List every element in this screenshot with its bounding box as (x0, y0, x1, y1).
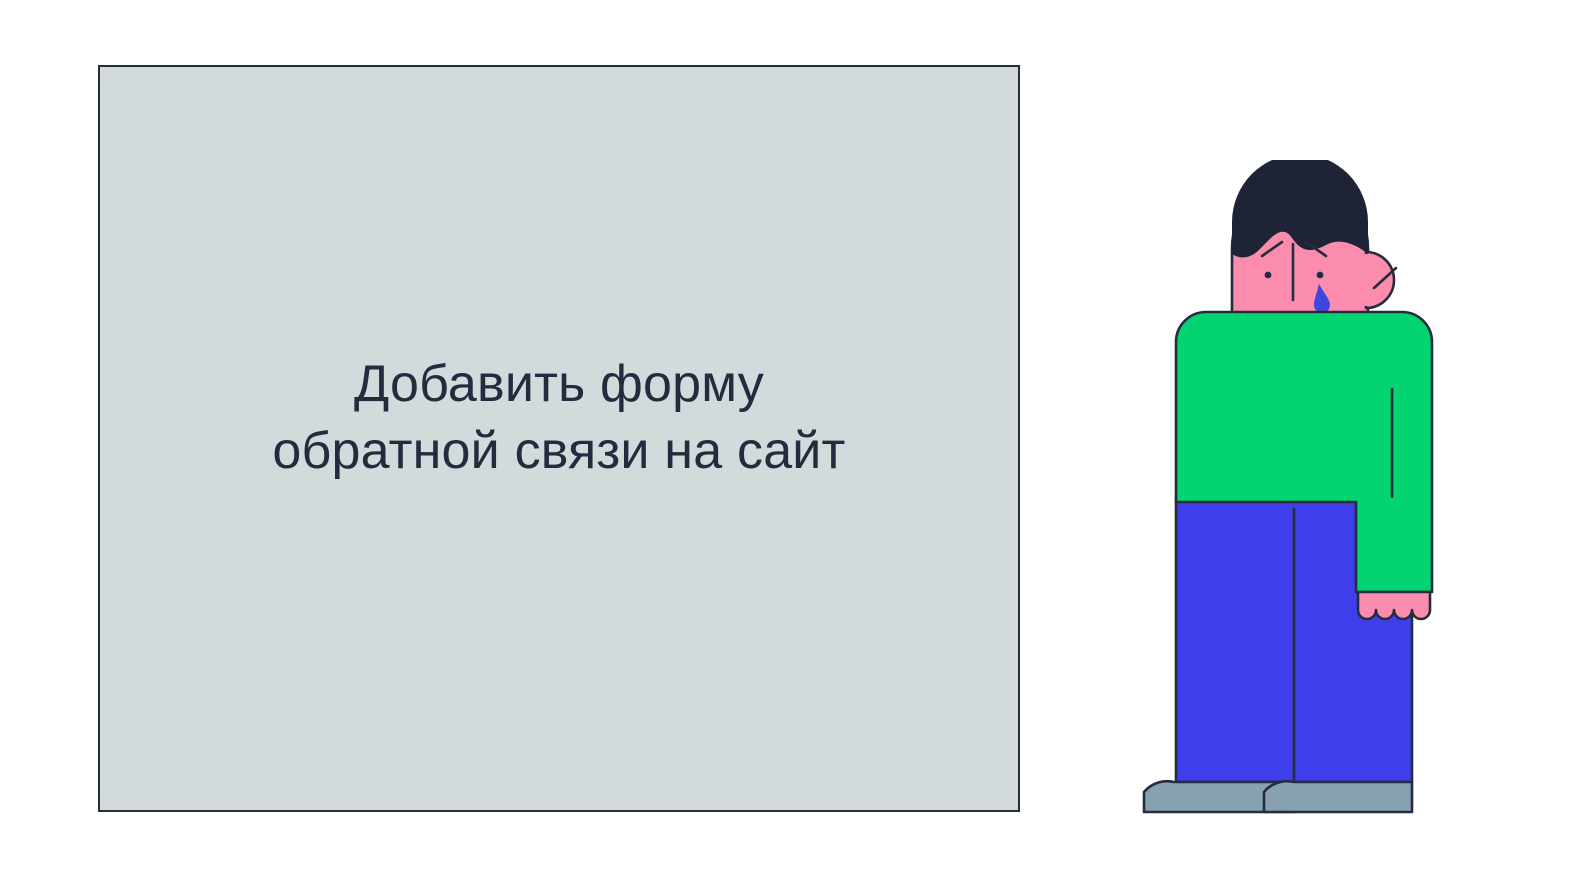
left-eye-icon (1265, 272, 1272, 279)
page-title: Добавить форму обратной связи на сайт (224, 351, 893, 484)
ear-seam-cover (1360, 254, 1369, 306)
illustration-svg (1120, 160, 1480, 840)
right-ear-icon (1366, 252, 1394, 308)
slide-canvas: Добавить форму обратной связи на сайт (0, 0, 1590, 890)
right-shoe-shape (1264, 781, 1412, 812)
headline-panel: Добавить форму обратной связи на сайт (98, 65, 1020, 812)
hand-shape (1358, 592, 1430, 619)
sad-crying-person-illustration (1120, 160, 1480, 840)
right-eye-icon (1317, 272, 1324, 279)
body-group (1144, 312, 1432, 812)
